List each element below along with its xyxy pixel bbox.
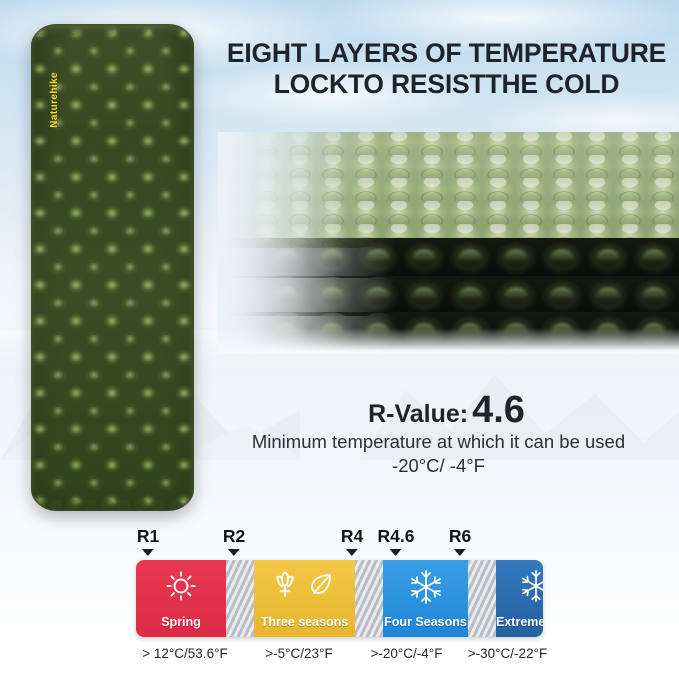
tulip-leaf-icon: [254, 569, 355, 601]
snowflake-icon: [383, 569, 468, 605]
triangle-down-icon: [454, 549, 466, 556]
pad-bottom-edge-baffles: [31, 500, 194, 511]
scale-marker-r46: R4.6: [378, 528, 415, 556]
scale-segment-three-seasons: Three seasons: [254, 560, 355, 637]
scale-markers: R1 R2 R4 R4.6 R6: [0, 528, 679, 560]
scale-segment-four-seasons: Four Seasons: [383, 560, 468, 637]
scale-marker-label: R4: [341, 528, 363, 546]
triangle-down-icon: [390, 549, 402, 556]
scale-segment-label: Four Seasons: [384, 615, 467, 637]
r-value-note: Minimum temperature at which it can be u…: [198, 430, 679, 478]
r-value-number: 4.6: [472, 389, 525, 431]
scale-marker-r4: R4: [341, 528, 363, 556]
scale-marker-r2: R2: [223, 528, 245, 556]
r-value-label: R-Value:: [368, 400, 468, 428]
headline-line-2: LOCKTO RESISTTHE COLD: [214, 69, 679, 100]
temperature-scale-bar: Spring Three sea: [136, 560, 543, 637]
temperature-range: >-30°C/-22°F: [459, 646, 556, 661]
r-value-note-line-1: Minimum temperature at which it can be u…: [198, 430, 679, 454]
headline: EIGHT LAYERS OF TEMPERATURE LOCKTO RESIS…: [214, 38, 679, 101]
r-value-scale: R1 R2 R4 R4.6 R6: [0, 528, 679, 679]
scale-segment-extreme-cold: Extreme Cold: [496, 560, 543, 637]
stack-bottom-fade: [218, 328, 679, 354]
scale-divider-2: [355, 560, 383, 637]
r-value-note-line-2: -20°C/ -4°F: [198, 454, 679, 478]
r-value-row: R-Value:4.6: [214, 389, 679, 432]
scale-divider-3: [468, 560, 496, 637]
triangle-down-icon: [346, 549, 358, 556]
infographic-canvas: Naturehike EIGHT LAYERS OF TEMPERATURE L…: [0, 0, 679, 679]
scale-marker-r1: R1: [137, 528, 159, 556]
stack-left-fade: [218, 132, 338, 354]
scale-marker-label: R1: [137, 528, 159, 546]
sun-icon: [136, 569, 226, 603]
triangle-down-icon: [142, 549, 154, 556]
brand-logo-text: Naturehike: [49, 72, 60, 128]
headline-line-1: EIGHT LAYERS OF TEMPERATURE: [214, 38, 679, 69]
triangle-down-icon: [228, 549, 240, 556]
scale-marker-r6: R6: [449, 528, 471, 556]
scale-marker-label: R4.6: [378, 528, 415, 546]
sleeping-pad-product-image: Naturehike: [31, 24, 194, 511]
temperature-range: > 12°C/53.6°F: [126, 646, 244, 661]
scale-divider-1: [226, 560, 254, 637]
pad-top-edge-baffles: [31, 24, 194, 35]
scale-segment-spring: Spring: [136, 560, 226, 637]
triple-snowflake-icon: [496, 569, 543, 603]
scale-marker-label: R6: [449, 528, 471, 546]
scale-marker-label: R2: [223, 528, 245, 546]
scale-segment-label: Three seasons: [261, 615, 349, 637]
temperature-range: >-5°C/23°F: [244, 646, 354, 661]
temperature-range-labels: > 12°C/53.6°F >-5°C/23°F >-20°C/-4°F >-3…: [126, 646, 556, 661]
eight-layer-stack-image: [218, 132, 679, 354]
scale-segment-label: Spring: [161, 615, 201, 637]
scale-segment-label: Extreme Cold: [496, 615, 543, 637]
temperature-range: >-20°C/-4°F: [354, 646, 459, 661]
